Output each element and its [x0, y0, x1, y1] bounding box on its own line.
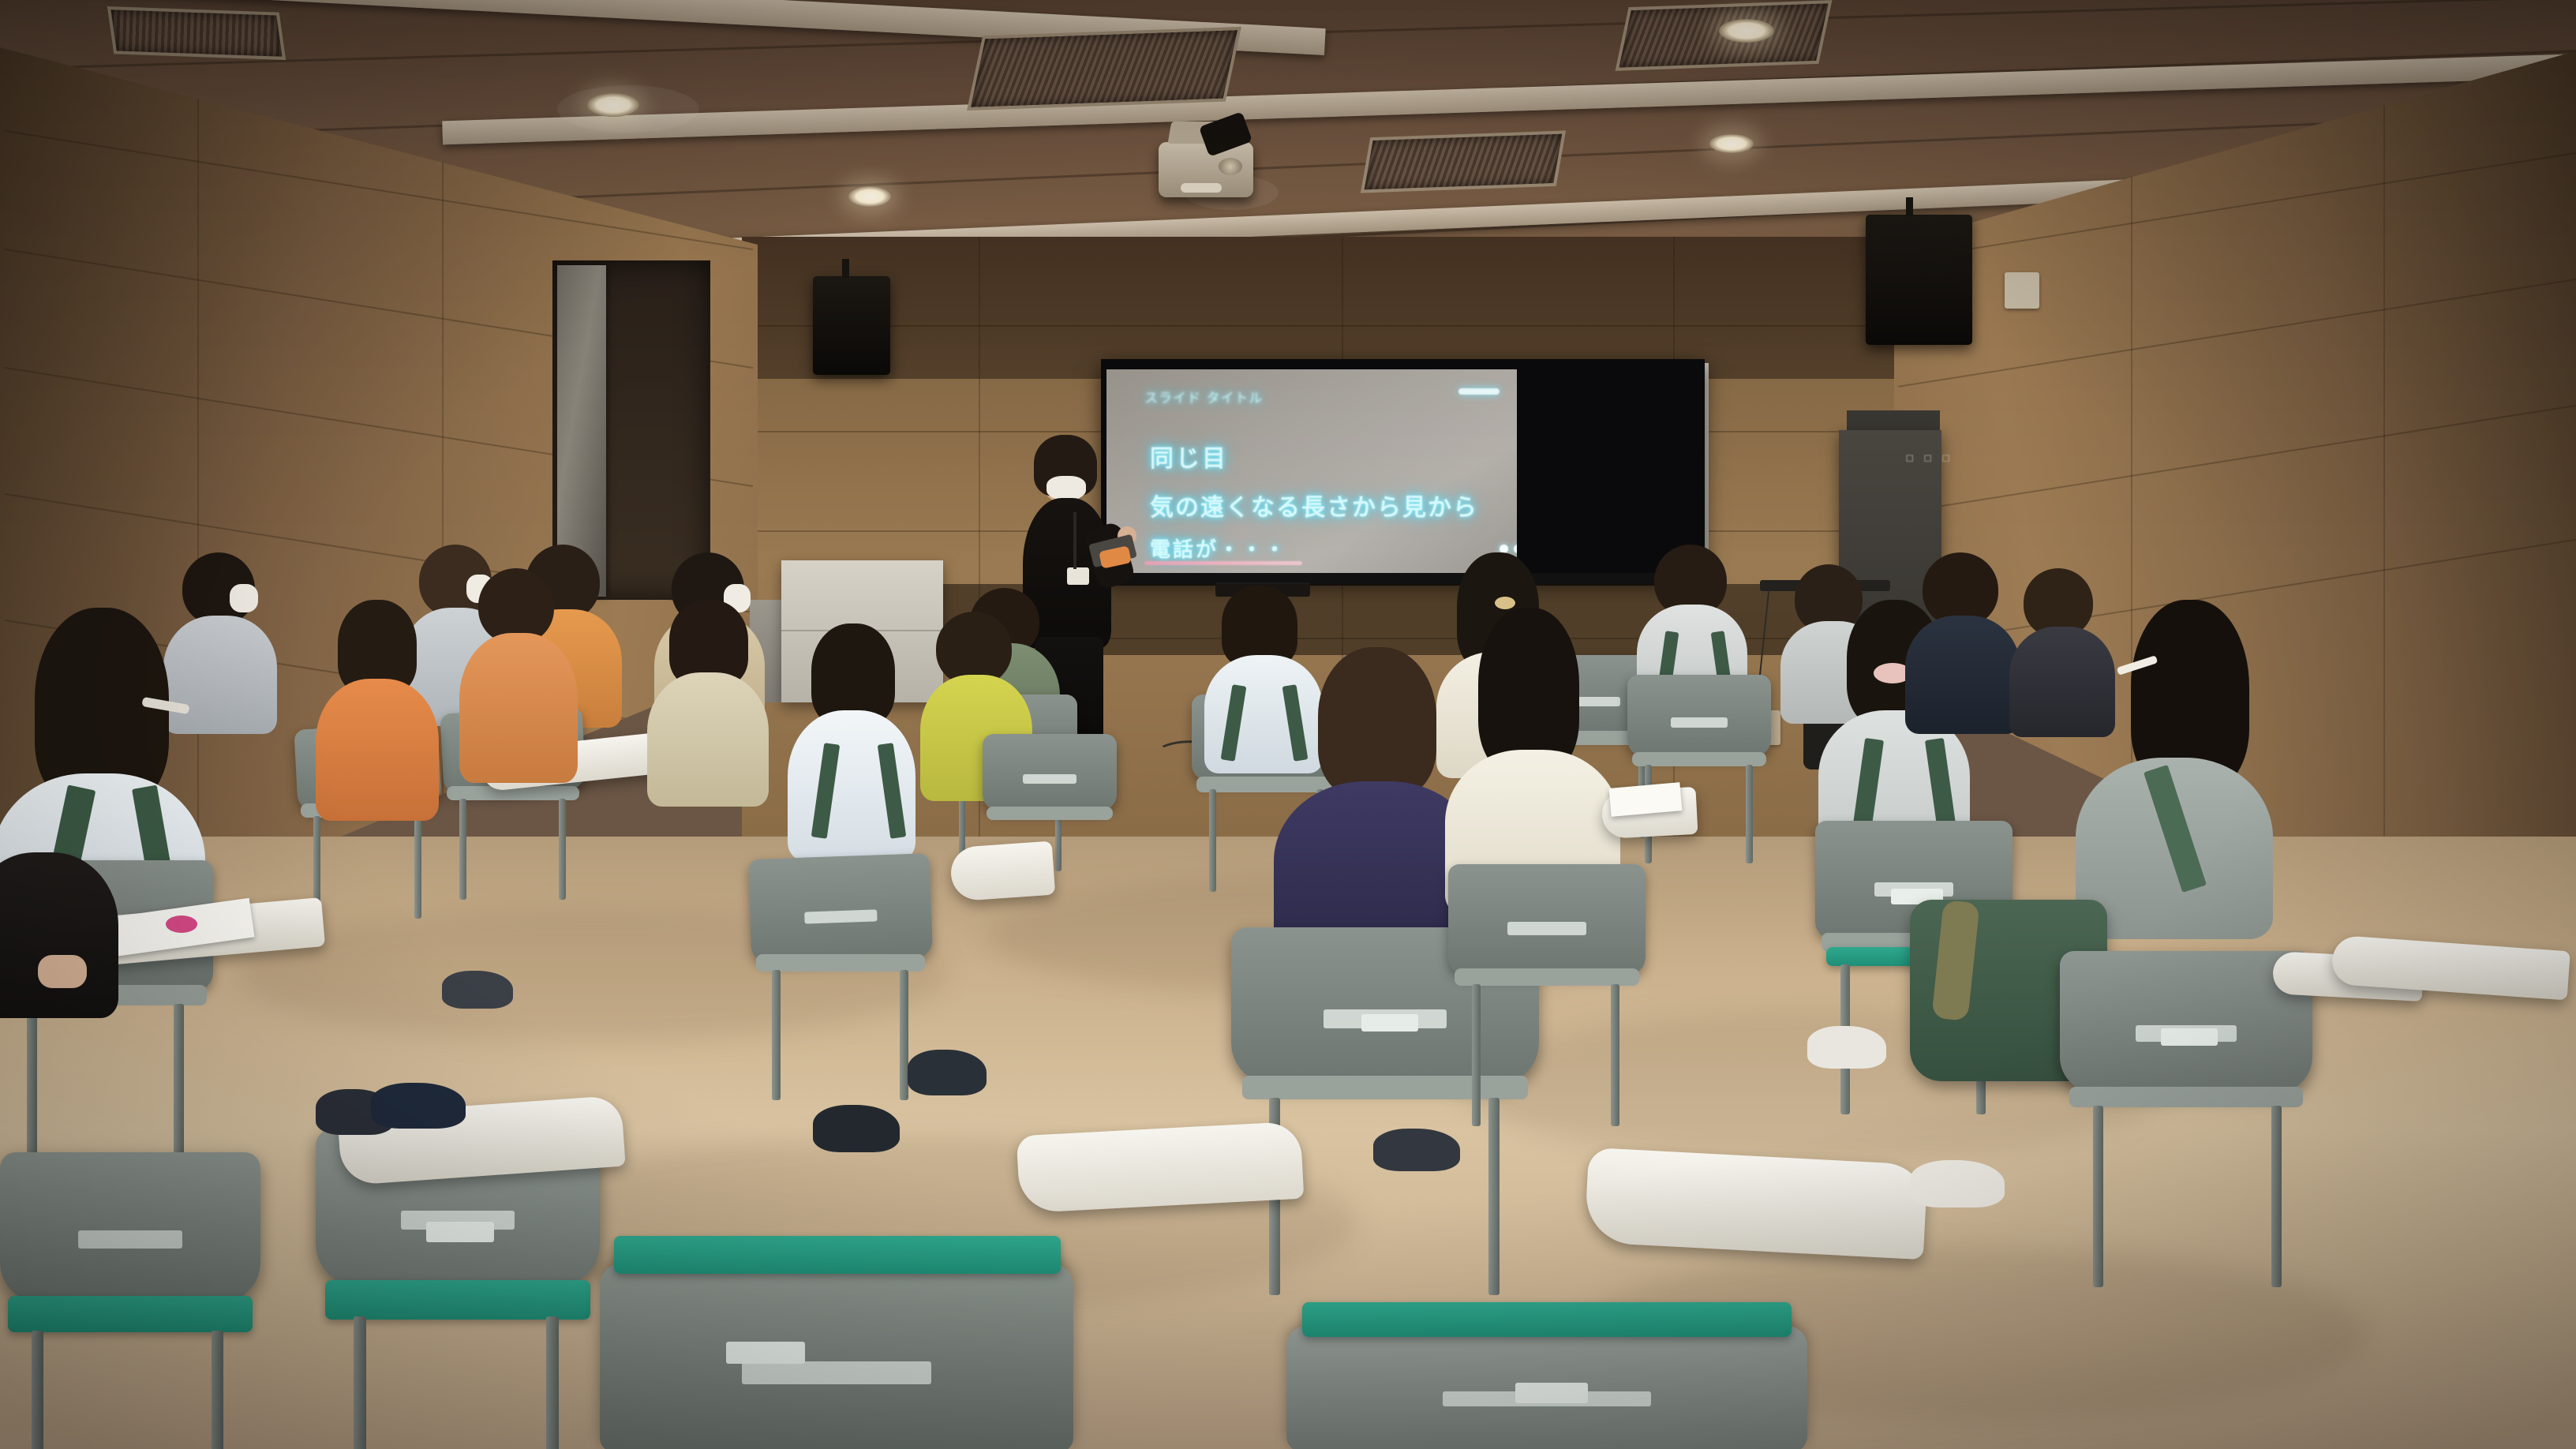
- wall-speaker-left: [813, 276, 890, 375]
- shoe: [813, 1105, 900, 1152]
- torso: [2009, 627, 2115, 737]
- chair-writing-tablet: [949, 841, 1055, 902]
- slide-line-2: 気の遠くなる長さから見から: [1150, 488, 1478, 522]
- ceiling-projector: [1159, 142, 1253, 197]
- shoe: [442, 971, 513, 1009]
- chair-writing-tablet: [1584, 1148, 1928, 1260]
- lecture-room-photo: スライド タイトル 同じ目 気の遠くなる長さから見から 電話が・・・: [0, 0, 2576, 1449]
- hvac-vent: [967, 27, 1241, 110]
- shoe: [1373, 1129, 1460, 1171]
- av-rack-top: [1847, 410, 1940, 432]
- slide-header-text: スライド タイトル: [1144, 387, 1263, 406]
- chair-name-tag: [2161, 1028, 2218, 1046]
- projection-screen: スライド タイトル 同じ目 気の遠くなる長さから見から 電話が・・・: [1106, 369, 1517, 573]
- presenter-face-mask: [1046, 476, 1086, 500]
- slide-line-1: 同じ目: [1150, 439, 1228, 474]
- torso: [1905, 616, 2020, 734]
- shoe: [908, 1050, 987, 1095]
- ceiling-downlight: [848, 186, 891, 207]
- hair: [1478, 608, 1579, 773]
- hvac-vent: [107, 6, 286, 60]
- ceiling-downlight: [1709, 134, 1754, 153]
- hand: [38, 955, 87, 988]
- face-mask: [230, 584, 258, 612]
- slide-line-3: 電話が・・・: [1150, 534, 1287, 563]
- chair-name-tag: [1515, 1383, 1588, 1403]
- chair-name-tag: [426, 1222, 494, 1242]
- shoe: [371, 1083, 466, 1129]
- ceiling-downlight: [587, 93, 639, 117]
- torso: [647, 672, 769, 807]
- presenter-lanyard-badge: [1067, 567, 1089, 585]
- ceiling-downlight: [1719, 19, 1774, 43]
- torso: [163, 616, 277, 734]
- projector-label-plate: [1181, 183, 1222, 193]
- torso: [0, 852, 118, 1018]
- chair-name-tag: [1361, 1014, 1418, 1032]
- chair-writing-tablet: [1017, 1121, 1305, 1214]
- slide-corner-badge: [1458, 388, 1500, 395]
- presenter-lanyard-strap: [1073, 512, 1076, 569]
- shoe: [1807, 1026, 1886, 1069]
- back-wall-upper-shadow: [742, 237, 1926, 379]
- hair: [1318, 647, 1436, 797]
- projector-lens: [1219, 158, 1242, 175]
- hvac-vent: [1361, 130, 1566, 193]
- chair-name-tag: [726, 1342, 805, 1364]
- wall-speaker-right: [1866, 215, 1972, 345]
- slide-progress-bar: [1144, 561, 1302, 565]
- ceiling-beam: [442, 53, 2576, 145]
- wall-plate: [2005, 272, 2039, 309]
- torso: [459, 633, 578, 783]
- hair-clip: [1495, 597, 1515, 609]
- shoe: [1910, 1160, 2005, 1207]
- av-rack-text: ▫ ▫ ▫: [1905, 450, 1953, 466]
- torso: [316, 679, 439, 821]
- handout-graphic: [166, 915, 197, 933]
